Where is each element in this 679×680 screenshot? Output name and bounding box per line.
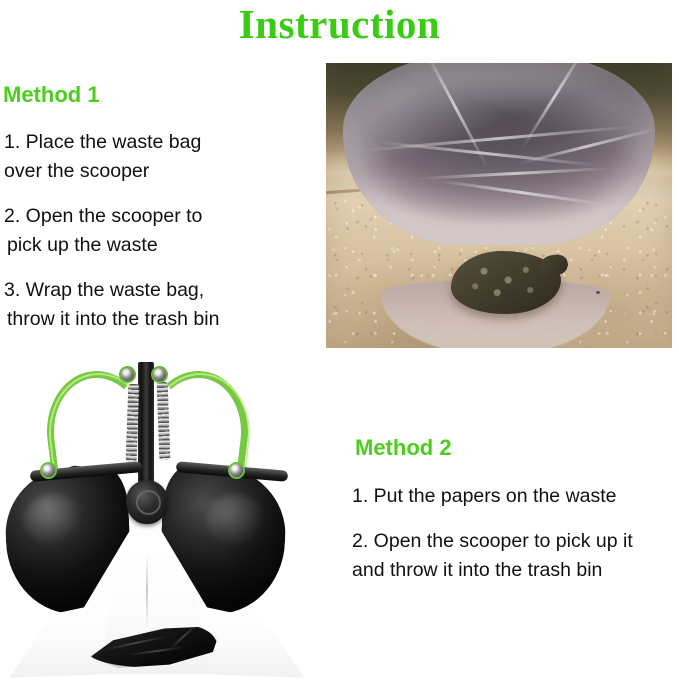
bag-crease [422,63,489,169]
scooper-rivet-jaw-right [228,462,245,479]
scooper-jaw-highlight-right [206,494,266,548]
method-1-step-2-line-1: 2. Open the scooper to [4,202,314,231]
method-1-step-3: 3. Wrap the waste bag, throw it into the… [4,276,314,334]
photo-scooper [0,358,320,680]
page-title: Instruction [0,1,679,47]
method-1-step-1: 1. Place the waste bag over the scooper [4,128,314,186]
method-1-step-1-line-1: 1. Place the waste bag [4,128,314,157]
bag-crease [418,167,611,180]
scooper-rivet-top-right [151,366,168,383]
scooper-rivet-jaw-left [40,462,57,479]
method-1-heading: Method 1 [3,82,100,108]
photo-bag-over-scooper [326,63,672,348]
method-2-step-2-line-2: and throw it into the trash bin [352,556,677,585]
method-2-steps: 1. Put the papers on the waste 2. Open t… [352,482,677,585]
method-2-heading: Method 2 [355,435,452,461]
method-1-step-3-line-1: 3. Wrap the waste bag, [4,276,314,305]
scooper-jaw-highlight-left [24,494,84,548]
bag-crease [437,179,604,205]
method-1-step-3-line-2: throw it into the trash bin [4,305,314,334]
scooper-pivot-ring [136,490,161,515]
bag-crease [362,125,635,152]
ground-debris [596,291,600,294]
scooper-pivot-hub [126,480,168,524]
method-2-step-1: 1. Put the papers on the waste [352,482,677,511]
method-2-step-1-line-1: 1. Put the papers on the waste [352,482,677,511]
paper-fold-line [146,554,148,628]
method-1-steps: 1. Place the waste bag over the scooper … [4,128,314,334]
bag-crease [521,63,590,149]
method-2-step-2: 2. Open the scooper to pick up it and th… [352,527,677,585]
plastic-waste-bag [343,63,654,245]
scooper-rivet-top-left [119,366,136,383]
method-1-step-2-line-2: pick up the waste [4,231,314,260]
bag-creases [343,63,654,245]
method-1-step-1-line-2: over the scooper [4,157,314,186]
method-1-step-2: 2. Open the scooper to pick up the waste [4,202,314,260]
method-2-step-2-line-1: 2. Open the scooper to pick up it [352,527,677,556]
